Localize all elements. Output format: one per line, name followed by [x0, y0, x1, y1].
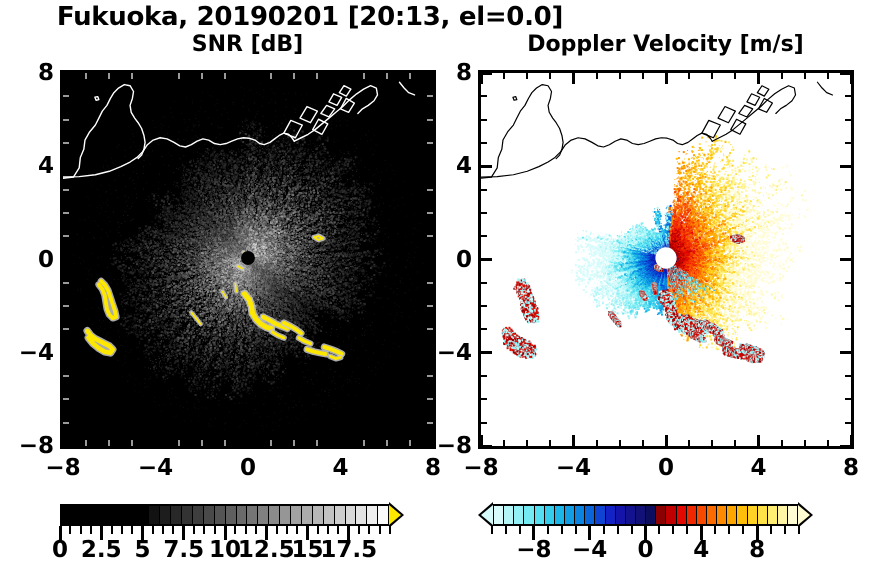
x-major-tick: [62, 73, 65, 84]
x-minor-tick: [549, 73, 551, 79]
snr-colorbar-segment: [160, 506, 171, 524]
snr-colorbar-minor-tick: [337, 526, 339, 534]
page-title: Fukuoka, 20190201 [20:13, el=0.0]: [0, 2, 620, 32]
figure-canvas: Fukuoka, 20190201 [20:13, el=0.0] SNR [d…: [0, 0, 870, 570]
snr-colorbar-segment: [117, 506, 128, 524]
snr-colorbar-label: 7.5: [163, 537, 204, 563]
snr-colorbar[interactable]: [60, 504, 404, 526]
y-minor-tick: [481, 189, 487, 191]
doppler-colorbar-segment: [595, 506, 605, 524]
snr-colorbar-minor-tick: [368, 526, 370, 534]
snr-colorbar-segment: [95, 506, 106, 524]
doppler-colorbar-label: 0: [637, 537, 653, 563]
snr-xtick-label: 0: [240, 455, 256, 481]
doppler-colorbar-minor-tick: [505, 526, 507, 534]
doppler-colorbar-minor-tick: [617, 526, 619, 534]
y-minor-tick: [845, 328, 851, 330]
snr-plot-axes[interactable]: [60, 70, 436, 449]
y-minor-tick: [63, 305, 69, 307]
x-minor-tick: [619, 440, 621, 446]
doppler-colorbar-segment: [636, 506, 646, 524]
x-minor-tick: [316, 73, 318, 79]
x-major-tick: [247, 435, 250, 446]
y-minor-tick: [481, 119, 487, 121]
y-minor-tick: [845, 142, 851, 144]
snr-colorbar-segment: [356, 506, 367, 524]
snr-colorbar-segment: [138, 506, 149, 524]
doppler-radar-image: [481, 73, 851, 446]
doppler-colorbar-segment: [524, 506, 534, 524]
x-minor-tick: [131, 440, 133, 446]
y-minor-tick: [481, 95, 487, 97]
x-minor-tick: [503, 73, 505, 79]
snr-ytick-label: −8: [4, 433, 54, 459]
snr-colorbar-segment: [313, 506, 324, 524]
snr-colorbar-segment: [149, 506, 160, 524]
y-major-tick: [840, 258, 851, 261]
doppler-colorbar-segment: [555, 506, 565, 524]
doppler-colorbar-minor-tick: [672, 526, 674, 534]
doppler-colorbar-segment: [565, 506, 575, 524]
doppler-colorbar-segment: [535, 506, 545, 524]
snr-colorbar-minor-tick: [214, 526, 216, 534]
snr-colorbar-segment: [182, 506, 193, 524]
snr-colorbar-minor-tick: [276, 526, 278, 534]
snr-colorbar-segment: [215, 506, 226, 524]
snr-colorbar-segment: [378, 506, 388, 524]
snr-colorbar-segment: [324, 506, 335, 524]
doppler-colorbar-minor-tick: [714, 526, 716, 534]
snr-colorbar-minor-tick: [317, 526, 319, 534]
y-minor-tick: [481, 398, 487, 400]
snr-colorbar-segment: [171, 506, 182, 524]
doppler-colorbar-minor-tick: [491, 526, 493, 534]
y-minor-tick: [63, 212, 69, 214]
doppler-colorbar-segment: [768, 506, 778, 524]
x-minor-tick: [201, 73, 203, 79]
x-minor-tick: [85, 440, 87, 446]
x-minor-tick: [596, 440, 598, 446]
snr-colorbar-segment: [226, 506, 237, 524]
doppler-colorbar-segment: [748, 506, 758, 524]
x-minor-tick: [108, 440, 110, 446]
x-minor-tick: [270, 440, 272, 446]
x-minor-tick: [108, 73, 110, 79]
x-major-tick: [480, 73, 483, 84]
doppler-colorbar-minor-tick: [798, 526, 800, 534]
doppler-colorbar-under-arrow-fill: [481, 505, 493, 525]
x-minor-tick: [781, 440, 783, 446]
y-minor-tick: [845, 95, 851, 97]
y-minor-tick: [845, 189, 851, 191]
snr-plot-area: [63, 73, 433, 446]
doppler-ytick-label: 8: [422, 60, 472, 86]
doppler-colorbar-label: −4: [572, 537, 607, 563]
y-minor-tick: [427, 95, 433, 97]
y-minor-tick: [845, 422, 851, 424]
doppler-colorbar-minor-tick: [728, 526, 730, 534]
snr-radar-image: [63, 73, 433, 446]
snr-colorbar-label: 2.5: [81, 537, 122, 563]
snr-colorbar-minor-tick: [69, 526, 71, 534]
y-minor-tick: [481, 375, 487, 377]
doppler-colorbar-segment: [585, 506, 595, 524]
x-minor-tick: [178, 73, 180, 79]
doppler-xtick-label: −4: [556, 455, 591, 481]
y-minor-tick: [845, 305, 851, 307]
doppler-xtick-label: 8: [843, 455, 859, 481]
y-major-tick: [840, 72, 851, 75]
snr-colorbar-segment: [280, 506, 291, 524]
snr-colorbar-minor-tick: [296, 526, 298, 534]
x-minor-tick: [526, 73, 528, 79]
doppler-colorbar-segment: [707, 506, 717, 524]
x-minor-tick: [316, 440, 318, 446]
snr-colorbar-minor-tick: [111, 526, 113, 534]
x-major-tick: [665, 73, 668, 84]
snr-colorbar-segment: [367, 506, 378, 524]
snr-colorbar-segment: [237, 506, 248, 524]
doppler-ytick-label: 0: [422, 247, 472, 273]
snr-panel-title: SNR [dB]: [60, 32, 435, 57]
x-major-tick: [850, 73, 853, 84]
doppler-colorbar-segment: [687, 506, 697, 524]
y-minor-tick: [427, 305, 433, 307]
snr-colorbar-label: 0: [52, 537, 68, 563]
y-minor-tick: [845, 398, 851, 400]
doppler-colorbar-minor-tick: [575, 526, 577, 534]
snr-colorbar-minor-tick: [327, 526, 329, 534]
snr-colorbar-minor-tick: [172, 526, 174, 534]
x-minor-tick: [386, 440, 388, 446]
snr-colorbar-segment: [269, 506, 280, 524]
y-minor-tick: [63, 189, 69, 191]
snr-colorbar-segment: [302, 506, 313, 524]
x-minor-tick: [178, 440, 180, 446]
doppler-colorbar-gradient: [492, 504, 799, 526]
x-major-tick: [339, 73, 342, 84]
y-minor-tick: [63, 328, 69, 330]
snr-colorbar-segment: [62, 506, 73, 524]
snr-colorbar-minor-tick: [203, 526, 205, 534]
snr-colorbar-minor-tick: [245, 526, 247, 534]
snr-colorbar-minor-tick: [379, 526, 381, 534]
snr-colorbar-minor-tick: [389, 526, 391, 534]
doppler-colorbar-segment: [494, 506, 504, 524]
y-minor-tick: [63, 119, 69, 121]
doppler-colorbar-segment: [697, 506, 707, 524]
x-minor-tick: [827, 440, 829, 446]
x-major-tick: [572, 435, 575, 446]
y-minor-tick: [845, 212, 851, 214]
y-major-tick: [840, 445, 851, 448]
snr-colorbar-segment: [84, 506, 95, 524]
y-minor-tick: [427, 375, 433, 377]
snr-colorbar-segment: [193, 506, 204, 524]
snr-colorbar-gradient: [60, 504, 390, 526]
x-minor-tick: [293, 440, 295, 446]
y-minor-tick: [845, 119, 851, 121]
x-minor-tick: [363, 440, 365, 446]
y-major-tick: [63, 72, 74, 75]
doppler-colorbar-segment: [545, 506, 555, 524]
x-minor-tick: [131, 73, 133, 79]
snr-colorbar-segment: [247, 506, 258, 524]
snr-colorbar-label: 12.5: [238, 537, 295, 563]
snr-colorbar-segment: [127, 506, 138, 524]
snr-colorbar-minor-tick: [234, 526, 236, 534]
doppler-colorbar-label: −8: [516, 537, 551, 563]
y-minor-tick: [427, 212, 433, 214]
x-minor-tick: [688, 73, 690, 79]
y-major-tick: [63, 351, 74, 354]
x-minor-tick: [619, 73, 621, 79]
y-major-tick: [840, 165, 851, 168]
snr-colorbar-minor-tick: [131, 526, 133, 534]
x-minor-tick: [293, 73, 295, 79]
doppler-colorbar-over-arrow-fill: [798, 505, 810, 525]
x-minor-tick: [596, 73, 598, 79]
doppler-ytick-label: −4: [422, 340, 472, 366]
doppler-colorbar-segment: [677, 506, 687, 524]
y-minor-tick: [63, 398, 69, 400]
x-minor-tick: [224, 440, 226, 446]
doppler-colorbar-segment: [626, 506, 636, 524]
snr-colorbar-minor-tick: [358, 526, 360, 534]
doppler-colorbar-segment: [575, 506, 585, 524]
y-minor-tick: [63, 282, 69, 284]
doppler-colorbar-segment: [758, 506, 768, 524]
doppler-colorbar-minor-tick: [784, 526, 786, 534]
doppler-colorbar-minor-tick: [547, 526, 549, 534]
y-minor-tick: [63, 235, 69, 237]
doppler-colorbar-label: 8: [749, 537, 765, 563]
y-minor-tick: [427, 398, 433, 400]
snr-colorbar-label: 5: [134, 537, 150, 563]
x-major-tick: [665, 435, 668, 446]
y-major-tick: [63, 445, 74, 448]
y-minor-tick: [427, 282, 433, 284]
x-minor-tick: [711, 73, 713, 79]
x-minor-tick: [409, 73, 411, 79]
x-minor-tick: [642, 440, 644, 446]
x-minor-tick: [526, 440, 528, 446]
y-minor-tick: [427, 235, 433, 237]
doppler-plot-area: [481, 73, 851, 446]
y-minor-tick: [427, 422, 433, 424]
snr-colorbar-label: 17.5: [320, 537, 377, 563]
snr-colorbar-over-arrow-fill: [389, 505, 401, 525]
doppler-colorbar-minor-tick: [561, 526, 563, 534]
snr-xtick-label: 4: [332, 455, 348, 481]
doppler-colorbar-segment: [514, 506, 524, 524]
snr-colorbar-minor-tick: [255, 526, 257, 534]
x-major-tick: [247, 73, 250, 84]
x-major-tick: [757, 435, 760, 446]
snr-colorbar-minor-tick: [90, 526, 92, 534]
x-major-tick: [339, 435, 342, 446]
x-minor-tick: [804, 73, 806, 79]
x-major-tick: [154, 73, 157, 84]
doppler-colorbar-segment: [788, 506, 797, 524]
x-minor-tick: [711, 440, 713, 446]
doppler-colorbar-label: 4: [693, 537, 709, 563]
doppler-ytick-label: 4: [422, 153, 472, 179]
x-minor-tick: [804, 440, 806, 446]
y-major-tick: [840, 351, 851, 354]
doppler-xtick-label: 0: [658, 455, 674, 481]
snr-xtick-label: −4: [138, 455, 173, 481]
x-minor-tick: [224, 73, 226, 79]
y-minor-tick: [427, 119, 433, 121]
y-minor-tick: [63, 95, 69, 97]
snr-ytick-label: 0: [4, 247, 54, 273]
snr-ytick-label: 4: [4, 153, 54, 179]
x-minor-tick: [827, 73, 829, 79]
snr-colorbar-label: 10: [209, 537, 241, 563]
y-major-tick: [63, 165, 74, 168]
x-minor-tick: [270, 73, 272, 79]
snr-colorbar-minor-tick: [162, 526, 164, 534]
x-minor-tick: [201, 440, 203, 446]
snr-colorbar-segment: [204, 506, 215, 524]
snr-ytick-label: 8: [4, 60, 54, 86]
y-major-tick: [481, 445, 492, 448]
y-minor-tick: [481, 422, 487, 424]
x-minor-tick: [549, 440, 551, 446]
y-minor-tick: [481, 282, 487, 284]
doppler-colorbar-minor-tick: [742, 526, 744, 534]
doppler-colorbar-segment: [606, 506, 616, 524]
y-minor-tick: [427, 142, 433, 144]
y-minor-tick: [427, 189, 433, 191]
snr-colorbar-label: 15: [291, 537, 323, 563]
y-minor-tick: [481, 305, 487, 307]
doppler-colorbar-segment: [727, 506, 737, 524]
y-minor-tick: [845, 375, 851, 377]
doppler-colorbar-minor-tick: [603, 526, 605, 534]
x-minor-tick: [386, 73, 388, 79]
y-minor-tick: [845, 235, 851, 237]
y-major-tick: [481, 351, 492, 354]
doppler-xtick-label: 4: [750, 455, 766, 481]
snr-colorbar-minor-tick: [121, 526, 123, 534]
x-minor-tick: [85, 73, 87, 79]
snr-ytick-label: −4: [4, 340, 54, 366]
y-major-tick: [481, 72, 492, 75]
y-minor-tick: [481, 235, 487, 237]
x-major-tick: [757, 73, 760, 84]
snr-colorbar-minor-tick: [80, 526, 82, 534]
doppler-colorbar-minor-tick: [770, 526, 772, 534]
y-minor-tick: [481, 142, 487, 144]
snr-colorbar-segment: [73, 506, 84, 524]
doppler-colorbar-segment: [778, 506, 788, 524]
x-minor-tick: [409, 440, 411, 446]
x-major-tick: [154, 435, 157, 446]
y-minor-tick: [63, 422, 69, 424]
y-minor-tick: [427, 328, 433, 330]
snr-colorbar-segment: [291, 506, 302, 524]
y-major-tick: [481, 258, 492, 261]
doppler-colorbar-segment: [616, 506, 626, 524]
y-minor-tick: [845, 282, 851, 284]
y-minor-tick: [63, 375, 69, 377]
snr-colorbar-segment: [106, 506, 117, 524]
doppler-colorbar-minor-tick: [686, 526, 688, 534]
doppler-ytick-label: −8: [422, 433, 472, 459]
x-minor-tick: [363, 73, 365, 79]
x-minor-tick: [642, 73, 644, 79]
snr-colorbar-minor-tick: [286, 526, 288, 534]
snr-colorbar-minor-tick: [193, 526, 195, 534]
snr-colorbar-segment: [335, 506, 346, 524]
y-major-tick: [481, 165, 492, 168]
doppler-colorbar-minor-tick: [631, 526, 633, 534]
x-major-tick: [572, 73, 575, 84]
doppler-colorbar-segment: [737, 506, 747, 524]
x-minor-tick: [734, 440, 736, 446]
doppler-colorbar-minor-tick: [519, 526, 521, 534]
doppler-colorbar-segment: [504, 506, 514, 524]
doppler-panel-title: Doppler Velocity [m/s]: [478, 32, 853, 57]
y-minor-tick: [481, 212, 487, 214]
snr-colorbar-segment: [346, 506, 357, 524]
doppler-colorbar-segment: [656, 506, 666, 524]
y-minor-tick: [481, 328, 487, 330]
x-minor-tick: [734, 73, 736, 79]
y-minor-tick: [63, 142, 69, 144]
doppler-colorbar-segment: [717, 506, 727, 524]
x-minor-tick: [781, 73, 783, 79]
snr-colorbar-segment: [258, 506, 269, 524]
doppler-colorbar-segment: [646, 506, 656, 524]
x-minor-tick: [503, 440, 505, 446]
doppler-colorbar-segment: [666, 506, 676, 524]
y-major-tick: [63, 258, 74, 261]
x-minor-tick: [688, 440, 690, 446]
doppler-plot-axes[interactable]: [478, 70, 854, 449]
doppler-colorbar-minor-tick: [658, 526, 660, 534]
snr-colorbar-minor-tick: [152, 526, 154, 534]
doppler-colorbar[interactable]: [478, 504, 813, 526]
